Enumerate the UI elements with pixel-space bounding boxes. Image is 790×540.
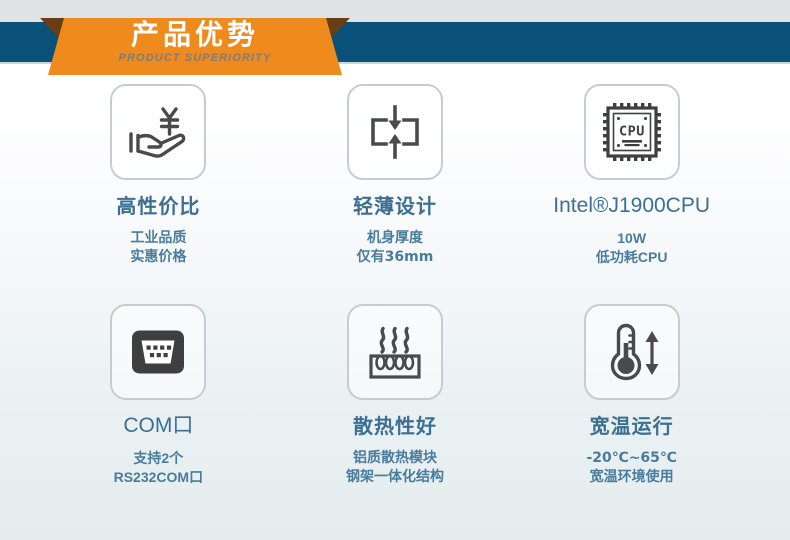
feature-title: 高性价比 bbox=[116, 194, 200, 218]
feature-desc-line: RS232COM口 bbox=[114, 468, 203, 487]
cpu-chip-icon: CPU bbox=[600, 100, 664, 164]
feature-grid: 高性价比 工业品质 实惠价格 bbox=[40, 84, 750, 524]
compress-arrows-icon bbox=[365, 103, 425, 161]
feature-title: 轻薄设计 bbox=[353, 194, 437, 218]
feature-desc-line: -20℃~65℃ bbox=[586, 449, 676, 468]
feature-desc-line: 工业品质 bbox=[130, 229, 186, 248]
page-subtitle: PRODUCT SUPERIORITY bbox=[48, 52, 342, 64]
section-header-banner: 产品优势 PRODUCT SUPERIORITY bbox=[0, 0, 790, 75]
feature-desc-line: 10W bbox=[596, 229, 668, 248]
feature-description: 10W 低功耗CPU bbox=[596, 229, 668, 267]
svg-text:CPU: CPU bbox=[619, 124, 645, 140]
feature-title: 散热性好 bbox=[353, 414, 437, 438]
feature-desc-line: 仅有36mm bbox=[357, 248, 434, 267]
feature-icon-box bbox=[347, 304, 443, 400]
feature-card: COM口 支持2个 RS232COM口 bbox=[40, 304, 277, 524]
feature-icon-box bbox=[110, 304, 206, 400]
feature-title: Intel®J1900CPU bbox=[553, 194, 710, 218]
feature-card: CPU Intel®J1900CPU 10W 低功耗CPU bbox=[513, 84, 750, 304]
feature-title: 宽温运行 bbox=[590, 414, 674, 438]
feature-desc-line: 支持2个 bbox=[114, 449, 203, 468]
feature-description: 铝质散热模块 钢架一体化结构 bbox=[346, 449, 444, 487]
feature-icon-box bbox=[347, 84, 443, 180]
feature-desc-line: 实惠价格 bbox=[130, 248, 186, 267]
feature-desc-line: 低功耗CPU bbox=[596, 248, 668, 267]
feature-desc-line: 钢架一体化结构 bbox=[346, 468, 444, 487]
hand-holding-yuan-icon bbox=[127, 104, 189, 160]
feature-description: 工业品质 实惠价格 bbox=[130, 229, 186, 267]
feature-title: COM口 bbox=[123, 414, 193, 438]
feature-desc-line: 宽温环境使用 bbox=[586, 468, 676, 487]
feature-icon-box bbox=[110, 84, 206, 180]
feature-card: 散热性好 铝质散热模块 钢架一体化结构 bbox=[277, 304, 514, 524]
feature-desc-line: 铝质散热模块 bbox=[346, 449, 444, 468]
product-superiority-page: 产品优势 PRODUCT SUPERIORITY bbox=[0, 0, 790, 540]
feature-card: 轻薄设计 机身厚度 仅有36mm bbox=[277, 84, 514, 304]
serial-port-icon bbox=[125, 328, 191, 376]
page-title: 产品优势 bbox=[48, 20, 342, 50]
feature-icon-box: CPU bbox=[584, 84, 680, 180]
feature-card: 宽温运行 -20℃~65℃ 宽温环境使用 bbox=[513, 304, 750, 524]
heat-sink-icon bbox=[363, 323, 427, 381]
feature-desc-line: 机身厚度 bbox=[357, 229, 434, 248]
feature-description: 机身厚度 仅有36mm bbox=[357, 229, 434, 267]
feature-description: 支持2个 RS232COM口 bbox=[114, 449, 203, 487]
feature-card: 高性价比 工业品质 实惠价格 bbox=[40, 84, 277, 304]
feature-icon-box bbox=[584, 304, 680, 400]
feature-description: -20℃~65℃ 宽温环境使用 bbox=[586, 449, 676, 487]
thermometer-range-icon bbox=[601, 321, 663, 383]
